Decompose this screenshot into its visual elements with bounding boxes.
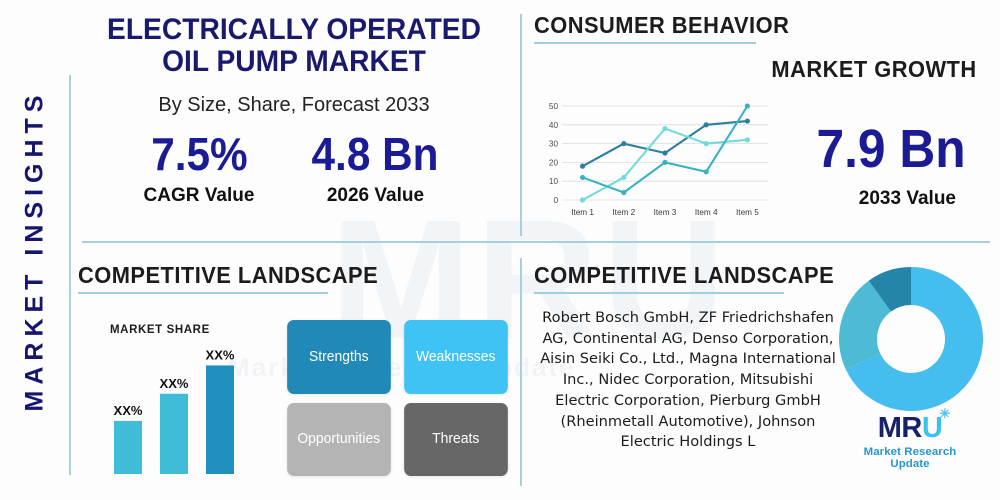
rail-divider-line: [69, 75, 71, 475]
svg-text:XX%: XX%: [114, 403, 143, 418]
stat-2026-value: 4.8 Bn: [312, 131, 439, 177]
swot-label-threats: Threats: [432, 431, 479, 447]
competitive-left-underline: [78, 292, 328, 294]
svg-text:XX%: XX%: [206, 347, 235, 362]
sparkle-icon: ✳: [939, 407, 948, 420]
svg-text:40: 40: [549, 121, 559, 130]
company-list: Robert Bosch GmbH, ZF Friedrichshafen AG…: [540, 308, 836, 453]
competitive-left-title: COMPETITIVE LANDSCAPE: [78, 262, 378, 289]
mru-logo: MRU✳ Market Research Update: [844, 414, 976, 470]
swot-box-weaknesses[interactable]: Weaknesses: [404, 320, 507, 394]
stat-2026: 4.8 Bn 2026 Value: [306, 131, 444, 207]
mru-logo-mark: MRU✳: [878, 414, 943, 443]
market-growth-value: 7.9 Bn: [816, 122, 965, 176]
divider-vertical-bottom: [520, 258, 522, 486]
donut-chart: [836, 264, 986, 414]
consumer-behavior-underline: [534, 42, 756, 44]
consumer-behavior-title: CONSUMER BEHAVIOR: [534, 12, 789, 39]
market-insights-rail: MARKET INSIGHTS: [0, 0, 70, 500]
divider-horizontal: [82, 241, 990, 243]
page-subtitle: By Size, Share, Forecast 2033: [72, 94, 516, 117]
svg-text:Item 4: Item 4: [695, 208, 718, 217]
swot-box-threats[interactable]: Threats: [404, 403, 507, 477]
divider-vertical-top: [520, 14, 522, 236]
consumer-behavior-panel: CONSUMER BEHAVIOR MARKET GROWTH 7.9 Bn 2…: [534, 12, 990, 238]
header-panel: ELECTRICALLY OPERATED OIL PUMP MARKET By…: [72, 10, 516, 238]
market-growth-label: 2033 Value: [859, 188, 956, 210]
svg-text:Item 5: Item 5: [736, 208, 759, 217]
line-chart-svg: 01020304050Item 1Item 2Item 3Item 4Item …: [536, 100, 776, 222]
svg-text:0: 0: [553, 196, 558, 205]
svg-text:Item 3: Item 3: [654, 208, 677, 217]
svg-text:50: 50: [549, 102, 559, 111]
mru-logo-mr: MR: [878, 412, 922, 444]
stat-cagr-label: CAGR Value: [144, 185, 255, 207]
line-chart: 01020304050Item 1Item 2Item 3Item 4Item …: [536, 100, 776, 222]
headline-stats: 7.5% CAGR Value 4.8 Bn 2026 Value: [72, 131, 516, 207]
svg-text:30: 30: [549, 140, 559, 149]
page-title: ELECTRICALLY OPERATED OIL PUMP MARKET: [85, 10, 502, 78]
competitive-right-underline: [534, 292, 784, 294]
swot-box-strengths[interactable]: Strengths: [287, 320, 390, 394]
competitive-left-heading-wrap: COMPETITIVE LANDSCAPE: [78, 262, 514, 294]
svg-text:20: 20: [549, 158, 559, 167]
mru-logo-tagline: Market Research Update: [844, 446, 976, 470]
market-insights-label: MARKET INSIGHTS: [21, 89, 50, 411]
competitive-landscape-right-panel: COMPETITIVE LANDSCAPE Robert Bosch GmbH,…: [534, 262, 990, 488]
bar-chart: XX%XX%XX%: [96, 334, 276, 476]
swot-label-opportunities: Opportunities: [297, 431, 380, 447]
market-growth-title: MARKET GROWTH: [771, 56, 976, 83]
swot-box-opportunities[interactable]: Opportunities: [287, 403, 390, 477]
competitive-landscape-left-panel: COMPETITIVE LANDSCAPE MARKET SHARE XX%XX…: [78, 262, 514, 488]
donut-chart-svg: [836, 264, 986, 414]
svg-text:XX%: XX%: [160, 376, 189, 391]
svg-text:Item 2: Item 2: [612, 208, 635, 217]
consumer-behavior-heading-wrap: CONSUMER BEHAVIOR: [534, 12, 990, 44]
swot-grid: Strengths Weaknesses Opportunities Threa…: [285, 320, 509, 476]
bar-chart-svg: XX%XX%XX%: [96, 334, 276, 476]
competitive-right-title: COMPETITIVE LANDSCAPE: [534, 262, 834, 289]
stat-2026-label: 2026 Value: [306, 185, 444, 207]
stat-cagr: 7.5% CAGR Value: [144, 131, 255, 207]
infographic-canvas: MRU Market Research Update MARKET INSIGH…: [0, 0, 1000, 500]
svg-text:10: 10: [549, 177, 559, 186]
stat-cagr-value: 7.5%: [148, 131, 250, 177]
swot-label-weaknesses: Weaknesses: [416, 349, 495, 365]
svg-text:Item 1: Item 1: [571, 208, 594, 217]
swot-label-strengths: Strengths: [309, 349, 369, 365]
